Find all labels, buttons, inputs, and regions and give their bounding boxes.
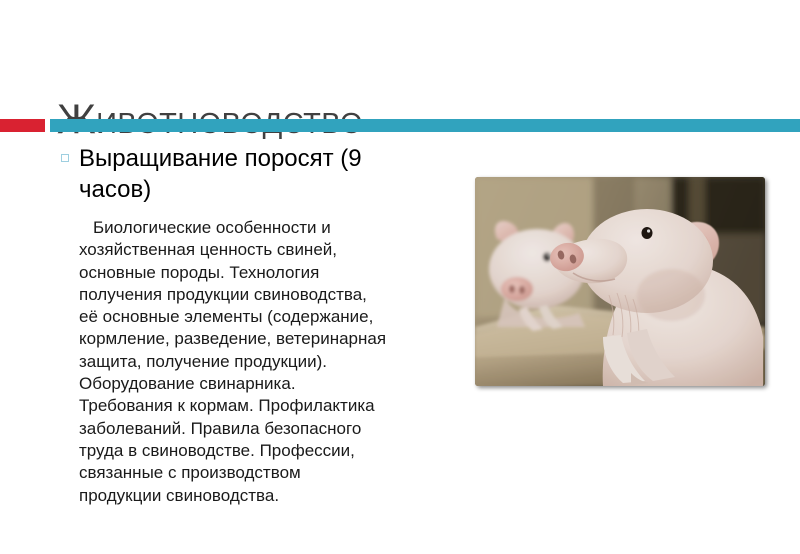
piglets-photo	[475, 177, 765, 386]
list-item-label: Выращивание поросят (9 часов)	[79, 143, 387, 205]
square-bullet-icon	[61, 154, 69, 162]
list-item: Выращивание поросят (9 часов)	[57, 143, 387, 205]
divider-red-segment	[0, 119, 45, 132]
slide-canvas: Животноводство Выращивание поросят (9 ча…	[0, 0, 800, 554]
description-paragraph: Биологические особенности и хозяйственна…	[57, 217, 387, 507]
title-divider	[0, 119, 800, 132]
content-body: Выращивание поросят (9 часов) Биологичес…	[57, 143, 387, 524]
divider-teal-segment	[50, 119, 800, 132]
piglets-illustration	[475, 177, 765, 386]
